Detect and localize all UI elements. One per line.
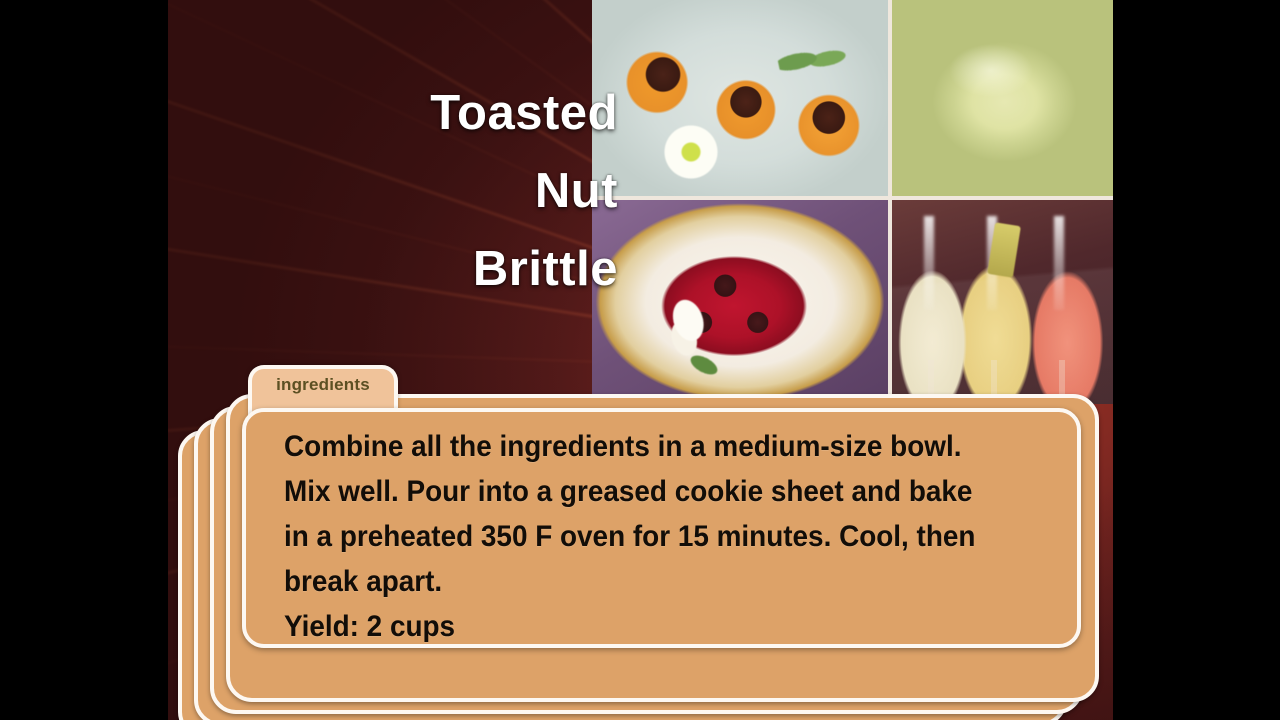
recipe-instructions-text: Combine all the ingredients in a medium-…	[284, 424, 997, 649]
ingredients-tab-label: ingredients	[276, 375, 370, 395]
video-frame: Toasted Nut Brittle ingredients Combine …	[168, 0, 1113, 720]
screenshot-stage: Toasted Nut Brittle ingredients Combine …	[0, 0, 1280, 720]
recipe-card-stack: ingredients Combine all the ingredients …	[168, 0, 1113, 720]
recipe-instructions-card: Combine all the ingredients in a medium-…	[242, 408, 1081, 648]
